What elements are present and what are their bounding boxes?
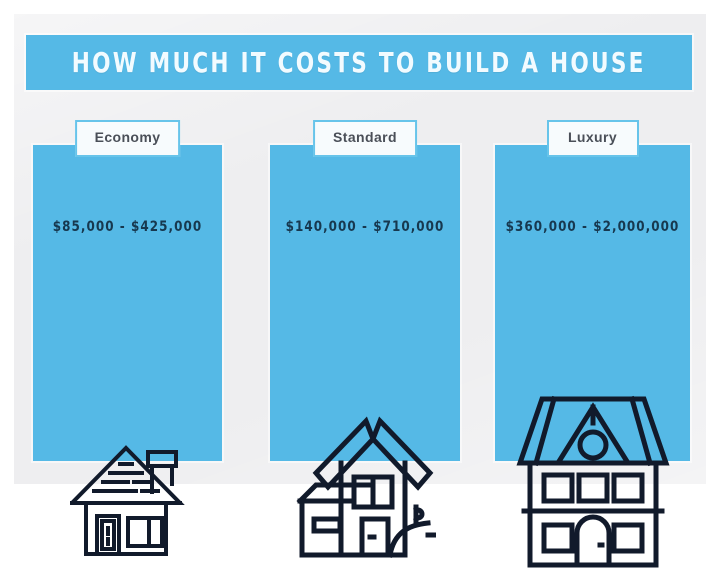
panel-standard [270, 145, 460, 461]
title-banner: HOW MUCH IT COSTS TO BUILD A HOUSE [26, 35, 692, 90]
column-luxury: Luxury $360,000 - $2,000,000 [495, 145, 690, 461]
page-title: HOW MUCH IT COSTS TO BUILD A HOUSE [72, 46, 646, 79]
house-large-icon [495, 393, 690, 569]
house-small-icon [33, 440, 222, 558]
column-economy: Economy $85,000 - $425,000 [33, 145, 222, 461]
house-medium-icon [270, 415, 460, 560]
label-box-economy: Economy [75, 120, 181, 157]
label-box-standard: Standard [313, 120, 417, 157]
category-label-standard: Standard [333, 129, 397, 145]
price-luxury: $360,000 - $2,000,000 [500, 219, 685, 235]
category-label-luxury: Luxury [568, 129, 617, 145]
infographic-root: HOW MUCH IT COSTS TO BUILD A HOUSE Econo… [0, 0, 720, 509]
panel-economy [33, 145, 222, 461]
label-box-luxury: Luxury [547, 120, 639, 157]
price-economy: $85,000 - $425,000 [38, 219, 218, 235]
price-standard: $140,000 - $710,000 [275, 219, 456, 235]
column-standard: Standard $140,000 - $710,000 [270, 145, 460, 461]
category-label-economy: Economy [95, 129, 161, 145]
